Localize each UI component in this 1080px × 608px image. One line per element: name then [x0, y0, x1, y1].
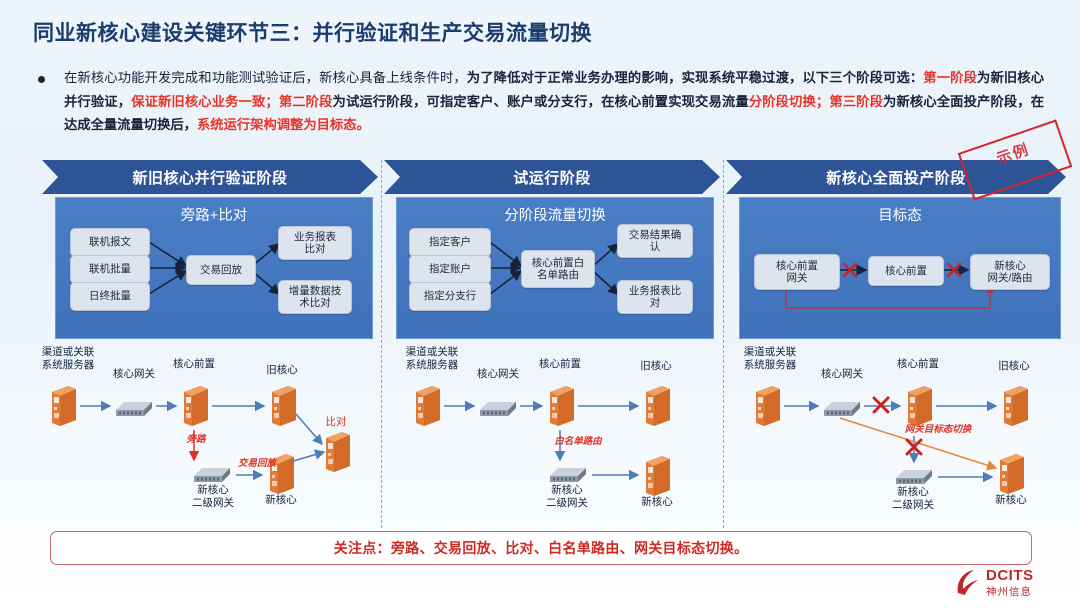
topo2-label-front: 核心前置 — [524, 358, 596, 371]
topo3-label-newcore: 新核心 — [980, 494, 1042, 507]
paragraph-segment-1: 为了降低对于正常业务办理的影响，实现系统平稳过渡，以下三个阶段可选： — [467, 70, 924, 85]
bullet-paragraph-text: 在新核心功能开发完成和功能测试验证后，新核心具备上线条件时，为了降低对于正常业务… — [64, 66, 1044, 137]
topo2-label-source: 渠道或关联 系统服务器 — [394, 346, 470, 371]
topo1-label-source: 渠道或关联 系统服务器 — [30, 346, 106, 371]
topo2-label-newgateway: 新核心 二级网关 — [526, 484, 608, 509]
panel3-node-3[interactable]: 新核心 网关/路由 — [970, 254, 1050, 290]
topo1-label-front: 核心前置 — [158, 358, 230, 371]
paragraph-segment-5: 第二阶段 — [279, 94, 333, 109]
logic-panel-2: 分阶段流量切换 指定客户 指定账户 指定分支行 核心前置白 名单路由 交易结果确… — [396, 197, 714, 339]
panel2-node-in1[interactable]: 指定客户 — [409, 228, 491, 257]
dcits-logo-mark-icon — [952, 567, 982, 597]
topo1-server-oldcore — [272, 386, 296, 426]
panel3-node-1[interactable]: 核心前置 网关 — [754, 254, 840, 290]
topo2-server-oldcore — [646, 386, 670, 426]
panel1-node-in1[interactable]: 联机报文 — [70, 228, 150, 257]
panel2-node-out1[interactable]: 交易结果确 认 — [617, 224, 693, 258]
topo1-switch-gateway — [116, 402, 152, 416]
paragraph-segment-0: 在新核心功能开发完成和功能测试验证后，新核心具备上线条件时， — [64, 70, 467, 85]
key-points-text: 关注点：旁路、交易回放、比对、白名单路由、网关目标态切换。 — [334, 538, 749, 558]
topology-diagram-2: 渠道或关联 系统服务器 核心网关 核心前置 旧核心 白名单路由 新核心 二级网关… — [388, 344, 722, 530]
page-title: 同业新核心建设关键环节三：并行验证和生产交易流量切换 — [33, 17, 592, 47]
panel1-node-in2[interactable]: 联机批量 — [70, 255, 150, 284]
topo3-server-front — [908, 386, 932, 426]
panel1-node-out1[interactable]: 业务报表 比对 — [278, 226, 352, 260]
topo1-label-newcore: 新核心 — [250, 494, 312, 507]
topo3-label-oldcore: 旧核心 — [980, 360, 1048, 373]
panel2-node-out2[interactable]: 业务报表比 对 — [617, 280, 693, 314]
topo1-label-compare: 比对 — [310, 416, 362, 429]
panel3-node-2[interactable]: 核心前置 — [868, 256, 944, 286]
topo3-label-gateway: 核心网关 — [806, 368, 878, 381]
slide-root: 同业新核心建设关键环节三：并行验证和生产交易流量切换 在新核心功能开发完成和功能… — [0, 0, 1080, 608]
stage-header-1[interactable]: 新旧核心并行验证阶段 — [42, 160, 378, 194]
topo2-label-newcore: 新核心 — [626, 496, 688, 509]
column-divider-2 — [723, 160, 724, 528]
topo2-server-front — [550, 386, 574, 426]
bullet-paragraph-block: 在新核心功能开发完成和功能测试验证后，新核心具备上线条件时，为了降低对于正常业务… — [38, 66, 1044, 137]
paragraph-segment-7: 分阶段切换； — [749, 94, 829, 109]
paragraph-segment-6: 为试运行阶段，可指定客户、账户或分支行，在核心前置实现交易流量 — [333, 94, 749, 109]
panel1-node-out2[interactable]: 增量数据技 术比对 — [278, 280, 352, 314]
topo1-label-replay: 交易回放 — [228, 458, 286, 471]
topo1-label-oldcore: 旧核心 — [248, 364, 316, 377]
dcits-logo: DCITS 神州信息 — [952, 565, 1064, 601]
logic-panel-3: 目标态 核心前置 网关 核心前置 新核心 网关/路由 — [739, 197, 1061, 339]
stage-header-2[interactable]: 试运行阶段 — [384, 160, 720, 194]
topo1-server-source — [52, 386, 76, 426]
topo2-label-oldcore: 旧核心 — [622, 360, 690, 373]
paragraph-segment-8: 第三阶段 — [829, 94, 883, 109]
topo3-label-front: 核心前置 — [882, 358, 954, 371]
topo2-server-source — [416, 386, 440, 426]
paragraph-segment-10: 系统运行架构调整为目标态。 — [197, 117, 370, 132]
topo1-label-bypass: 旁路 — [174, 434, 218, 447]
topo2-switch-gateway — [480, 402, 516, 416]
paragraph-segment-4: 保证新旧核心业务一致； — [131, 94, 279, 109]
logic-panel-1: 旁路+比对 联机报文 联机批量 日终批量 交易回放 业务报表 比对 增量数据技 … — [55, 197, 373, 339]
topo3-label-switch: 网关目标态切换 — [878, 424, 998, 437]
topo3-label-newgateway: 新核心 二级网关 — [872, 486, 954, 511]
panel2-node-in2[interactable]: 指定账户 — [409, 255, 491, 284]
topology-diagram-1: 渠道或关联 系统服务器 核心网关 核心前置 旧核心 比对 旁路 交易回放 新核心… — [22, 344, 380, 530]
topo3-switch-newgateway — [896, 470, 932, 484]
panel1-node-mid[interactable]: 交易回放 — [186, 255, 256, 285]
column-divider-1 — [381, 160, 382, 528]
panel1-node-in3[interactable]: 日终批量 — [70, 282, 150, 311]
panel2-node-in3[interactable]: 指定分支行 — [409, 282, 491, 311]
topo3-label-source: 渠道或关联 系统服务器 — [732, 346, 808, 371]
panel2-node-mid[interactable]: 核心前置白 名单路由 — [521, 250, 595, 288]
dcits-logo-cn: 神州信息 — [986, 584, 1032, 599]
topo1-switch-newgateway — [194, 468, 230, 482]
paragraph-segment-2: 第一阶段 — [923, 70, 977, 85]
topo3-server-newcore — [1000, 454, 1024, 494]
bullet-dot-icon — [38, 76, 45, 83]
topo3-switch-gateway — [824, 402, 860, 416]
topo2-label-whitelist: 白名单路由 — [530, 436, 626, 449]
topo1-server-front — [184, 386, 208, 426]
topo1-label-newgateway: 新核心 二级网关 — [172, 484, 254, 509]
topo3-server-source — [756, 386, 780, 426]
topo1-server-compare — [326, 432, 350, 472]
topo3-server-oldcore — [1004, 386, 1028, 426]
topo2-server-newcore — [646, 456, 670, 496]
topo2-switch-newgateway — [550, 468, 586, 482]
topology-diagram-3: 渠道或关联 系统服务器 核心网关 核心前置 旧核心 网关目标态切换 新核心 二级… — [728, 344, 1078, 530]
dcits-logo-en: DCITS — [986, 567, 1034, 584]
key-points-box: 关注点：旁路、交易回放、比对、白名单路由、网关目标态切换。 — [50, 531, 1032, 565]
